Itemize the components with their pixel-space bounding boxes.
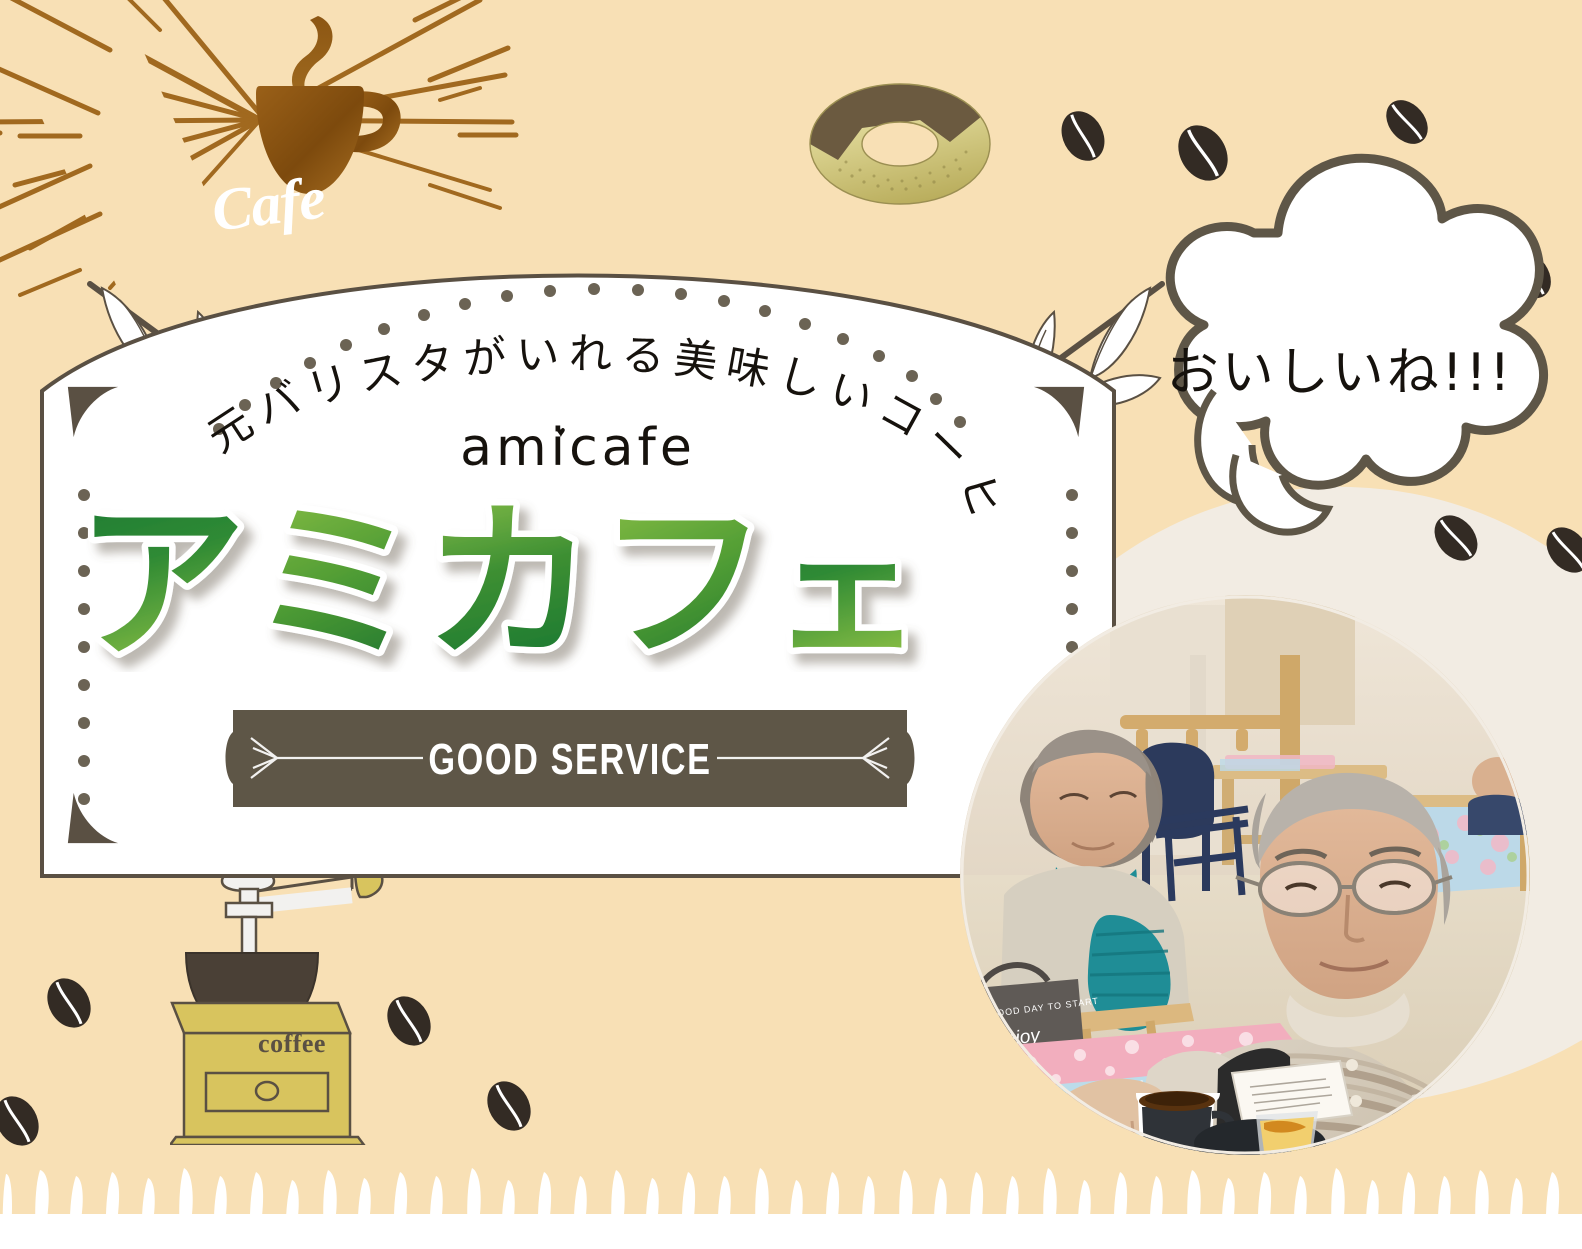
latin-brand-name: amicafe — [38, 418, 1118, 478]
cafe-activity-photo: A GOOD DAY TO START Enjoy Everything SHA… — [960, 595, 1530, 1155]
heart-dot-icon: ♥ — [556, 424, 566, 442]
svg-text:ア: ア — [76, 492, 246, 672]
grinder-coffee-label: coffee — [232, 1029, 352, 1059]
coffee-grinder-icon — [170, 855, 420, 1145]
donut-icon — [800, 72, 1000, 217]
svg-text:フ: フ — [598, 492, 768, 672]
banner-label: GOOD SERVICE — [293, 735, 847, 785]
kana-title: ア ミ カ フ ェ — [38, 492, 1118, 672]
speech-bubble-text: おいしいね!!! — [1140, 330, 1540, 405]
brush-fringe-icon — [0, 1154, 1582, 1249]
coffee-bean-icon — [478, 1075, 540, 1142]
corner-bracket-ornament — [64, 789, 122, 847]
svg-text:ミ: ミ — [250, 492, 420, 672]
poster-canvas: Cafe — [0, 0, 1582, 1249]
svg-text:カ: カ — [424, 492, 594, 672]
coffee-bean-icon — [1052, 105, 1114, 172]
coffee-bean-icon — [38, 972, 100, 1039]
svg-text:ェ: ェ — [772, 506, 922, 672]
coffee-bean-icon — [0, 1090, 48, 1157]
